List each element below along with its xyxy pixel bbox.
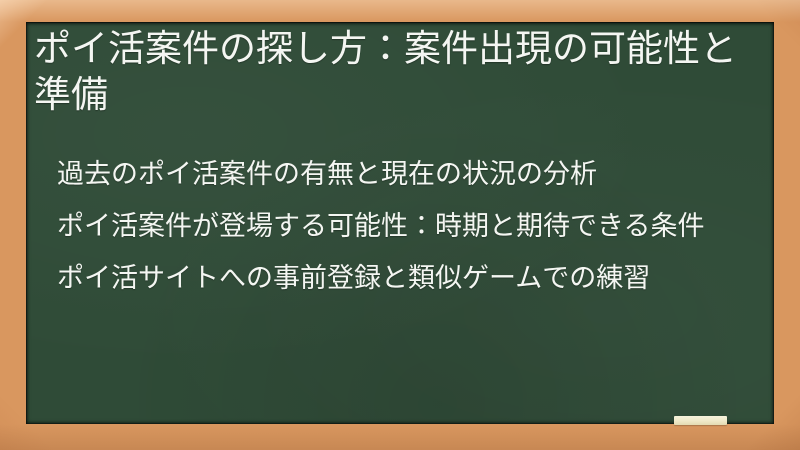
topic-list: 過去のポイ活案件の有無と現在の状況の分析 ポイ活案件が登場する可能性：時期と期待… — [57, 153, 771, 300]
frame-bottom-shadow — [0, 424, 800, 450]
slide-title: ポイ活案件の探し方：案件出現の可能性と準備 — [34, 26, 758, 118]
chalk-stick — [674, 416, 727, 425]
list-item: ポイ活サイトへの事前登録と類似ゲームでの練習 — [57, 257, 771, 300]
frame-top-highlight — [0, 0, 800, 22]
chalkboard-slide: ポイ活案件の探し方：案件出現の可能性と準備 過去のポイ活案件の有無と現在の状況の… — [0, 0, 800, 450]
list-item: ポイ活案件が登場する可能性：時期と期待できる条件 — [57, 205, 771, 248]
chalkboard-surface: ポイ活案件の探し方：案件出現の可能性と準備 過去のポイ活案件の有無と現在の状況の… — [26, 22, 774, 424]
slide-content: ポイ活案件の探し方：案件出現の可能性と準備 過去のポイ活案件の有無と現在の状況の… — [26, 22, 774, 424]
list-item: 過去のポイ活案件の有無と現在の状況の分析 — [57, 153, 771, 196]
